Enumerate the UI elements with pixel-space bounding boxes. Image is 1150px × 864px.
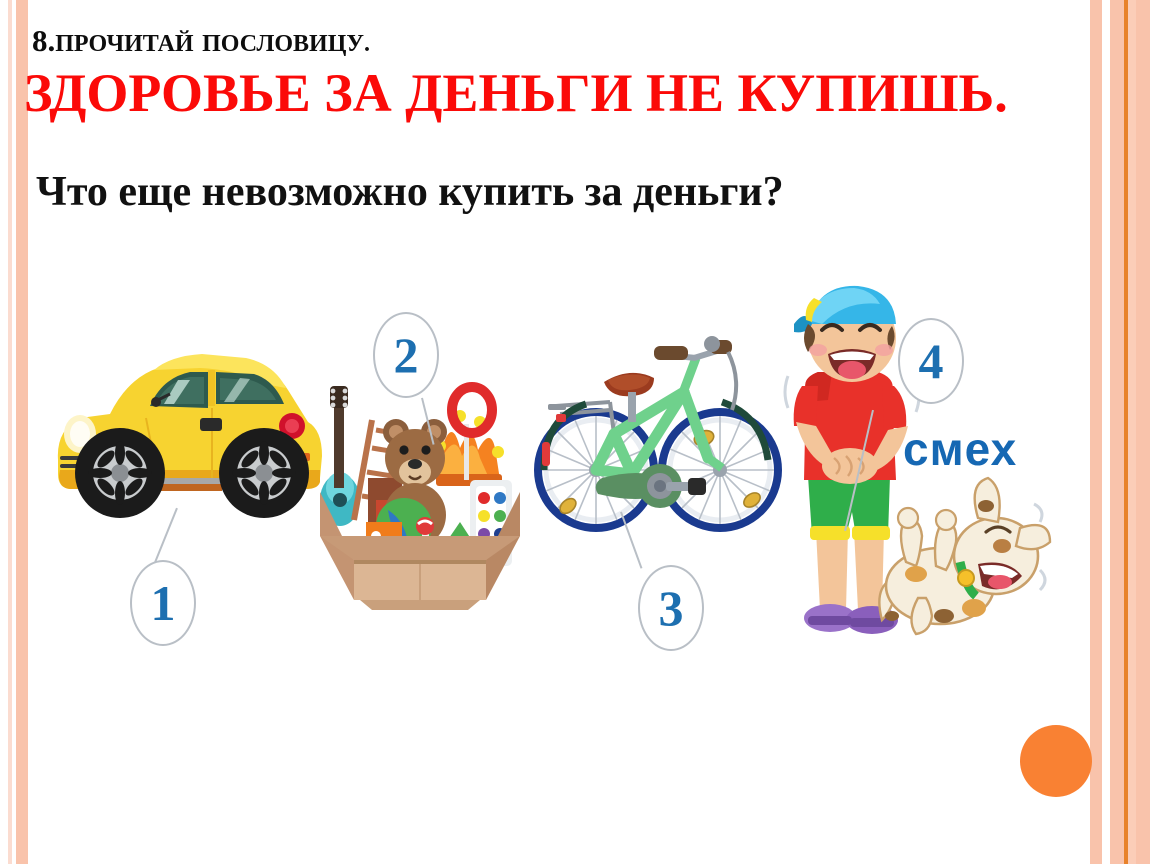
callout-1-number: 1 — [151, 578, 176, 628]
callout-3[interactable]: 3 — [638, 565, 704, 651]
callout-1[interactable]: 1 — [130, 560, 196, 646]
orange-circle-decoration — [1020, 725, 1092, 797]
illustration-row: 1 — [0, 270, 1080, 690]
right-stripe-2 — [1110, 0, 1124, 864]
callout-4[interactable]: 4 — [898, 318, 964, 404]
yellow-car-illustration — [50, 310, 330, 540]
task-punctuation: . — [364, 31, 370, 57]
task-heading: 8.Прочитай пословицу. — [32, 22, 370, 60]
smeh-label: смех — [903, 422, 1017, 476]
task-number: 8. — [32, 23, 55, 58]
slide-canvas: 8.Прочитай пословицу. ЗДОРОВЬЕ ЗА ДЕНЬГИ… — [0, 0, 1150, 864]
green-bicycle-illustration — [536, 318, 776, 568]
question-text: Что еще невозможно купить за деньги? — [36, 168, 784, 216]
proverb-text: ЗДОРОВЬЕ ЗА ДЕНЬГИ НЕ КУПИШЬ. — [24, 62, 1008, 124]
callout-2[interactable]: 2 — [373, 312, 439, 398]
callout-2-number: 2 — [394, 330, 419, 380]
callout-3-number: 3 — [659, 583, 684, 633]
right-stripe-1 — [1090, 0, 1102, 864]
task-instruction: Прочитай пословицу — [55, 22, 364, 59]
right-stripe-4 — [1136, 0, 1150, 864]
right-stripe-3 — [1128, 0, 1136, 864]
callout-4-number: 4 — [919, 336, 944, 386]
